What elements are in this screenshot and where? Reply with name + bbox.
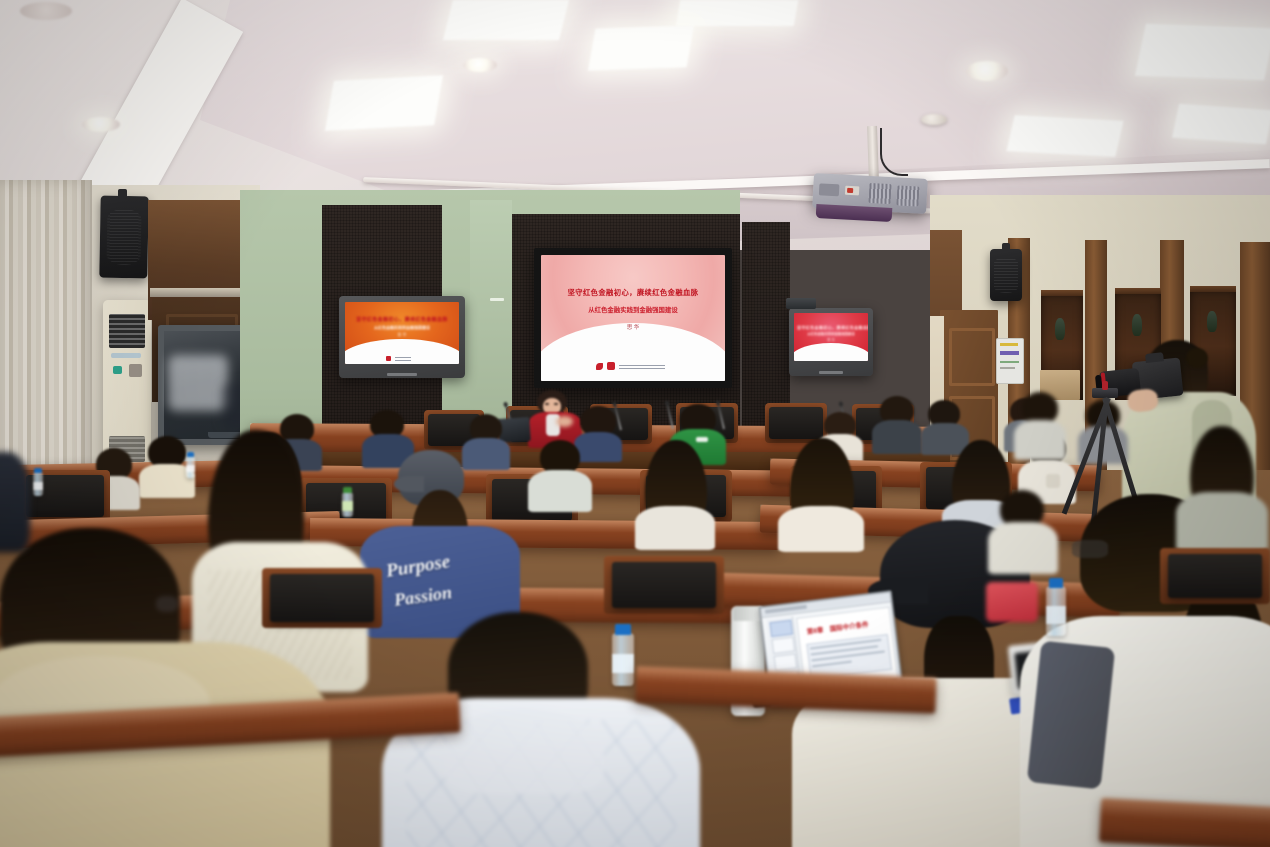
right-monitor[interactable]: 坚守红色金融初心，赓续红色金融血脉 从红色金融实践到金融强国建设 思 华 [789, 308, 873, 376]
ceiling-downlight [20, 2, 72, 20]
slide-title: 坚守红色金融初心，赓续红色金融血脉 [548, 288, 717, 298]
left-monitor[interactable]: 坚守红色金融初心，赓续红色金融血脉 从红色金融实践到金融强国建设 思 华 [339, 296, 465, 378]
organization-logo-icon [596, 363, 603, 370]
wall-mark [490, 298, 504, 301]
logo-wordmark [619, 363, 665, 369]
ceiling-downlight [966, 61, 1008, 81]
wall-speaker-left [99, 196, 148, 279]
projector-mount [867, 126, 879, 182]
smoke-detector-icon [921, 114, 947, 125]
laptop-slide-heading: 第8章 国际中介条件 [806, 618, 869, 635]
chair [604, 556, 724, 614]
speaker-bracket [118, 189, 127, 199]
ceiling-downlight [463, 58, 497, 72]
chair [765, 403, 827, 443]
chair [262, 568, 382, 628]
hood [444, 708, 604, 794]
jacket-stripe [1027, 641, 1115, 790]
decorative-vase [1055, 318, 1065, 340]
water-bottle [33, 468, 43, 496]
presenter-hand [556, 416, 573, 427]
ceiling-panel-light [1006, 115, 1123, 157]
camera-prism [1145, 352, 1164, 363]
projection-screen[interactable]: 坚守红色金融初心，赓续红色金融血脉 从红色金融实践到金融强国建设 思 华 [534, 248, 732, 388]
monitor-mount-bracket [786, 298, 816, 309]
presenter-laptop[interactable] [497, 417, 531, 443]
eyeglasses-icon [1072, 540, 1108, 558]
right-monitor-slide-subtitle: 从红色金融实践到金融强国建设 [797, 331, 865, 336]
slide-subtitle: 从红色金融实践到金融强国建设 [548, 305, 717, 314]
right-monitor-slide-author: 思 华 [797, 337, 865, 342]
left-monitor-slide-author: 思 华 [350, 332, 455, 338]
slide-author: 思 华 [548, 323, 717, 331]
ceiling-panel-light [1172, 104, 1270, 145]
eyeglasses-icon [156, 596, 178, 612]
ceiling-panel-light [676, 0, 799, 26]
decorative-vase [1207, 311, 1217, 332]
ceiling-panel-light [588, 25, 694, 70]
water-bottle [612, 624, 634, 686]
right-monitor-slide-title: 坚守红色金融初心，赓续红色金融血脉 [797, 325, 865, 331]
water-bottle [1046, 578, 1066, 636]
ceiling-panel-light [1135, 24, 1270, 81]
water-bottle [186, 452, 195, 478]
ceiling-downlight [82, 117, 120, 132]
left-monitor-slide-subtitle: 从红色金融实践到金融强国建设 [350, 325, 455, 331]
partner-logo-icon [607, 362, 615, 370]
ceiling-panel-light [443, 0, 569, 40]
wall-notice [996, 338, 1024, 384]
lecture-hall-photo: 坚守红色金融初心，赓续红色金融血脉 从红色金融实践到金融强国建设 思 华 坚守红… [0, 0, 1270, 847]
left-monitor-slide-title: 坚守红色金融初心，赓续红色金融血脉 [350, 316, 455, 323]
cap-brim [394, 476, 424, 492]
wall-speaker-right [990, 249, 1022, 301]
chair [1160, 548, 1270, 604]
desk-row-front [1099, 798, 1270, 847]
speaker-bracket [1002, 243, 1010, 251]
decorative-vase [1132, 314, 1142, 336]
acoustic-panel-right [742, 222, 790, 428]
water-bottle [342, 487, 353, 517]
